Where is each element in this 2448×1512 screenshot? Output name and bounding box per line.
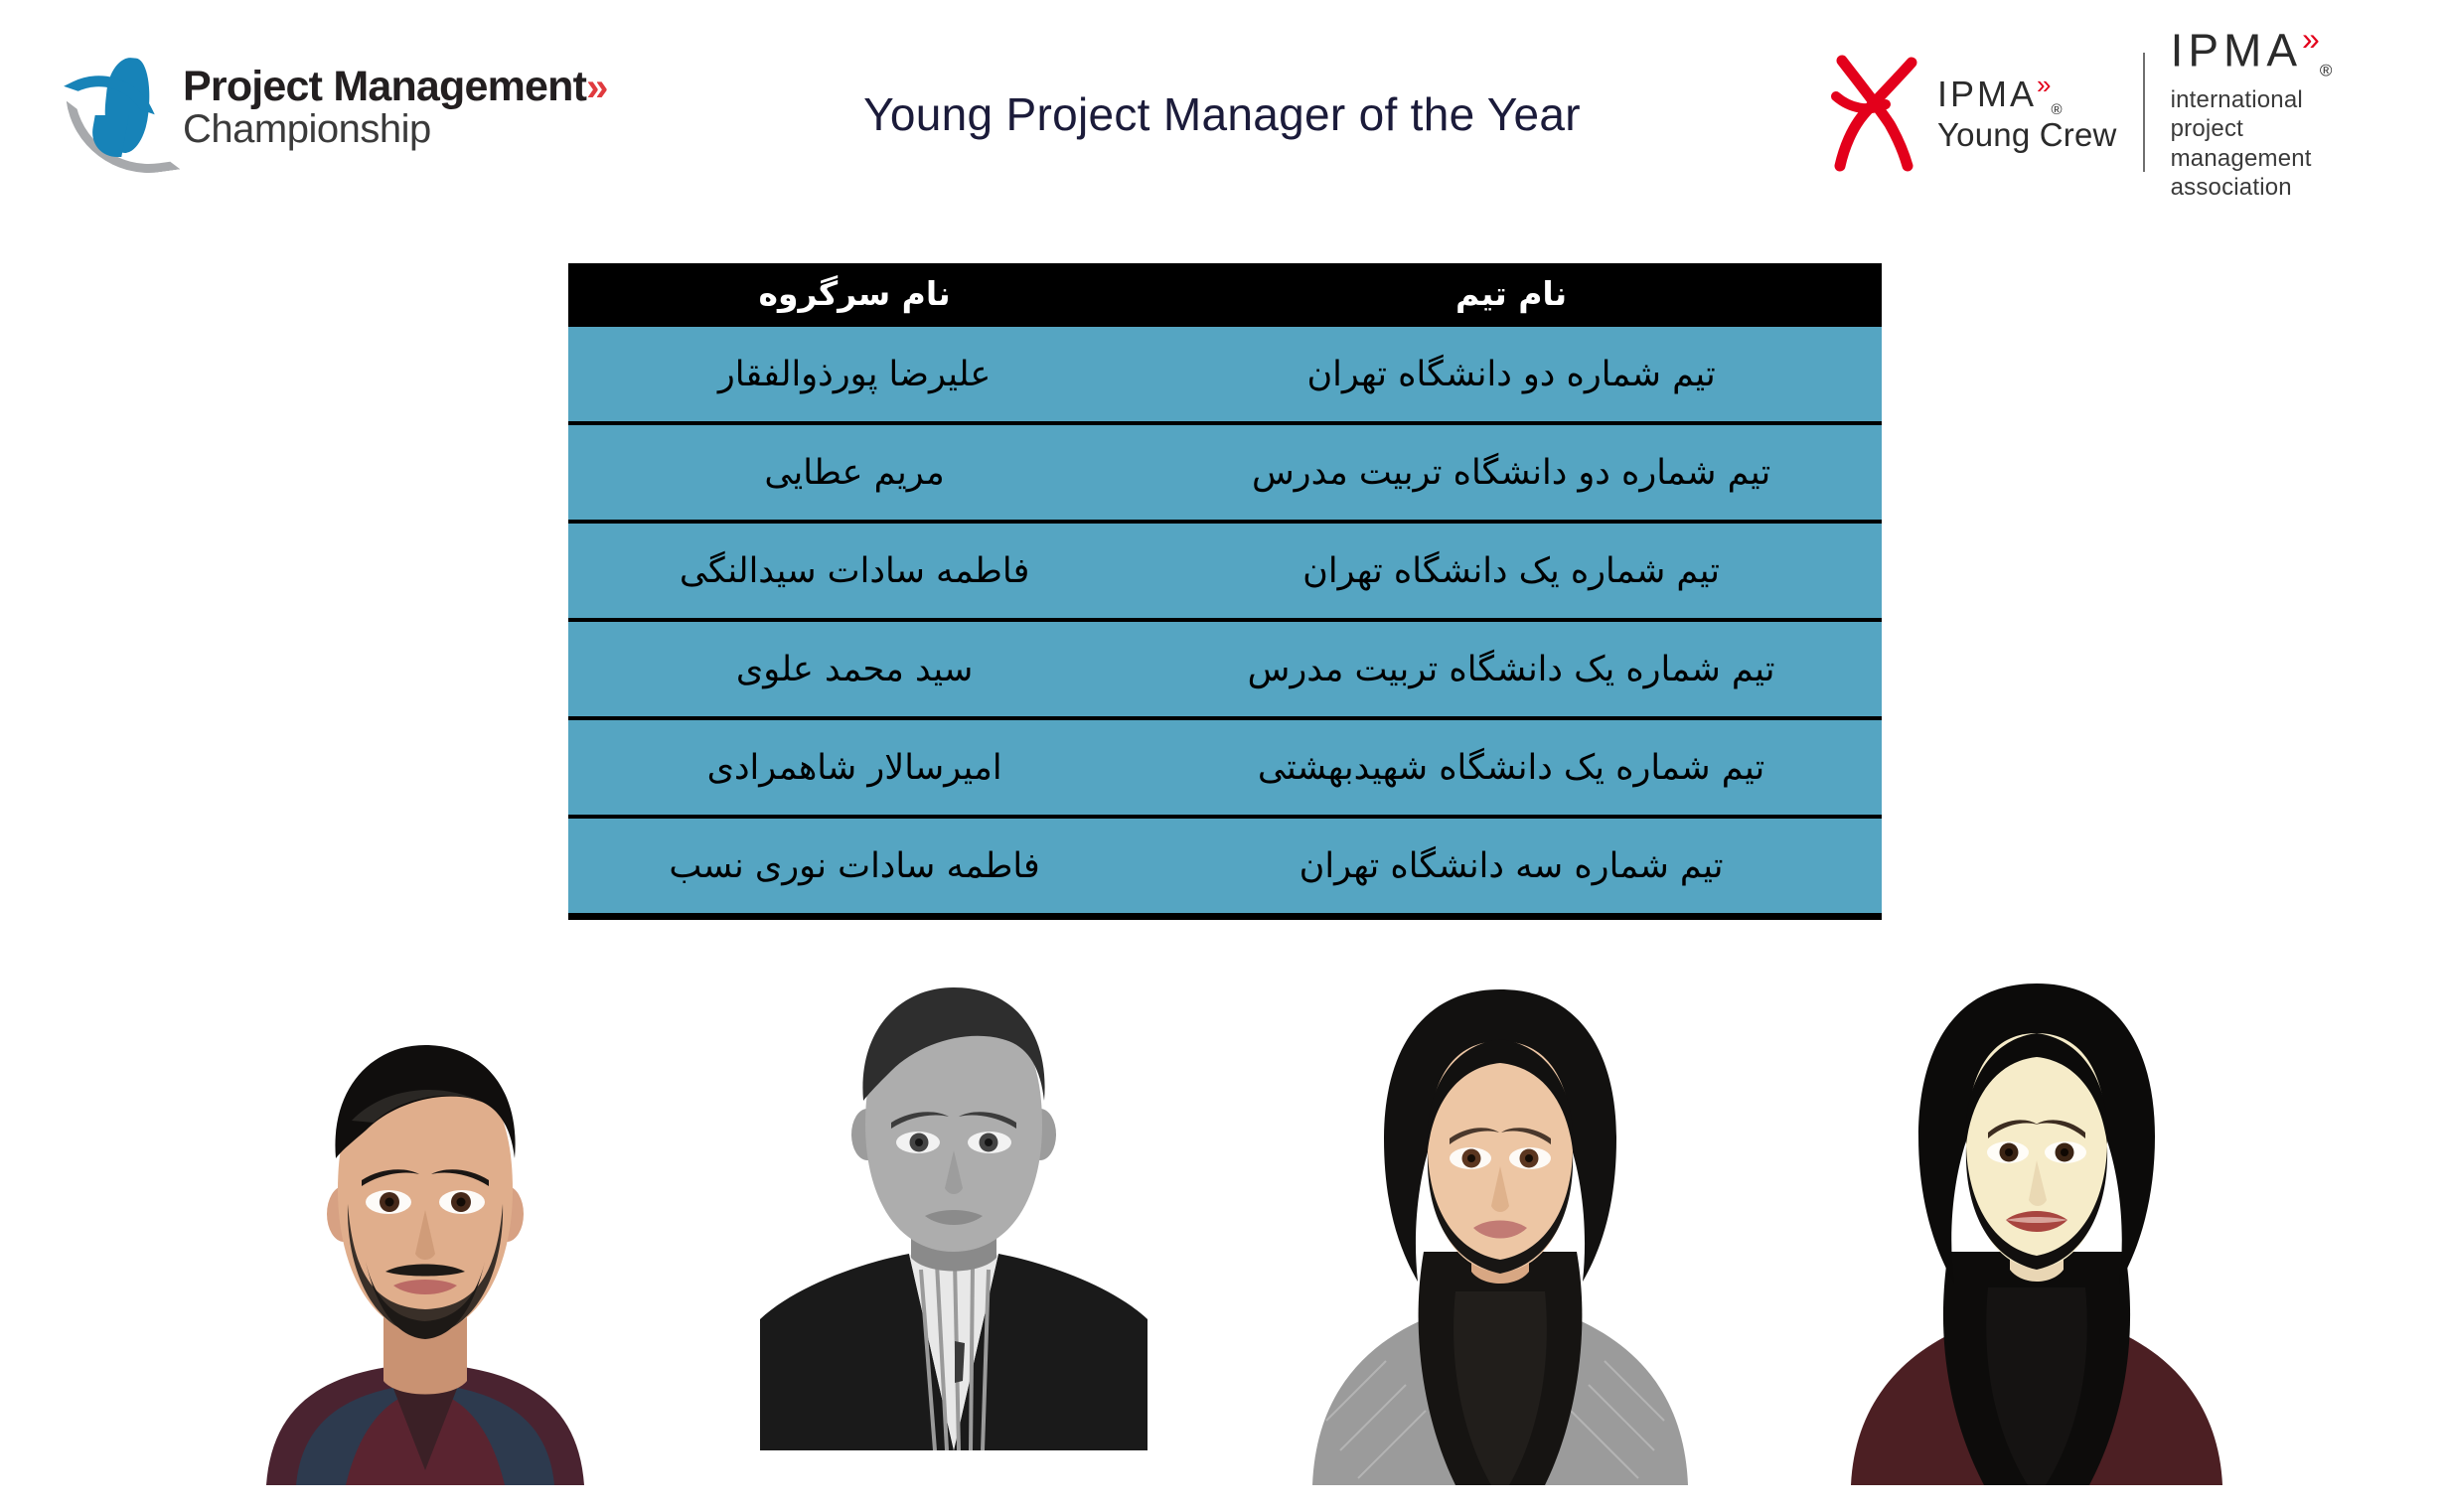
ipma-tagline-line-4: association: [2171, 173, 2338, 202]
pmc-swoosh-icon: [70, 54, 165, 161]
cell-leader-name: علیرضا پورذوالفقار: [568, 325, 1141, 423]
page-title: Young Project Manager of the Year: [755, 87, 1689, 141]
cell-team-name: تیم شماره دو دانشگاه تهران: [1141, 325, 1882, 423]
ipma-tagline: international project management associa…: [2171, 85, 2338, 202]
ipma-main-chevron-icon: »: [2302, 21, 2320, 57]
pmc-wordmark: Project Management» Championship: [183, 66, 608, 150]
cell-team-name: تیم شماره دو دانشگاه تربیت مدرس: [1141, 423, 1882, 522]
teams-table: نام تیم نام سرگروه تیم شماره دو دانشگاه …: [568, 263, 1882, 920]
portrait-photo-3: [1306, 954, 1694, 1485]
ipma-word-text: IPMA: [1937, 74, 2037, 114]
ipma-tagline-line-3: management: [2171, 144, 2338, 173]
table-row: تیم شماره یک دانشگاه تهران فاطمه سادات س…: [568, 522, 1882, 620]
pmc-line-2: Championship: [183, 109, 608, 150]
table-row: تیم شماره یک دانشگاه شهیدبهشتی امیرسالار…: [568, 718, 1882, 817]
table-header-row: نام تیم نام سرگروه: [568, 263, 1882, 325]
ipma-word-main: IPMA»®: [2171, 23, 2338, 79]
cell-leader-name: فاطمه سادات نوری نسب: [568, 817, 1141, 917]
cell-team-name: تیم شماره یک دانشگاه تهران: [1141, 522, 1882, 620]
portrait-woman-black-hijab-grey-blazer: [1306, 954, 1694, 1485]
table-body: تیم شماره دو دانشگاه تهران علیرضا پورذوا…: [568, 325, 1882, 917]
ipma-chevron-icon: »: [2037, 70, 2051, 99]
cell-team-name: تیم شماره یک دانشگاه شهیدبهشتی: [1141, 718, 1882, 817]
ipma-tagline-line-1: international: [2171, 85, 2338, 114]
cell-leader-name: مریم عطایی: [568, 423, 1141, 522]
portrait-young-man-beard: [227, 954, 624, 1485]
portrait-woman-black-hijab-maroon-top: [1843, 954, 2230, 1485]
table-header: نام تیم نام سرگروه: [568, 263, 1882, 325]
young-crew-wordmark: IPMA»® Young Crew: [1937, 72, 2117, 153]
young-crew-subtitle: Young Crew: [1937, 118, 2117, 153]
column-header-leader: نام سرگروه: [568, 263, 1141, 325]
ipma-main-registered-icon: ®: [2320, 61, 2338, 79]
pmc-line-1: Project Management»: [183, 66, 608, 109]
pmc-chevron-icon: »: [586, 66, 607, 109]
header-band: Project Management» Championship Young P…: [0, 0, 2448, 238]
young-crew-figure-icon: [1828, 53, 1923, 172]
portrait-photo-1: [227, 954, 624, 1485]
table-row: تیم شماره دو دانشگاه تربیت مدرس مریم عطا…: [568, 423, 1882, 522]
column-header-team: نام تیم: [1141, 263, 1882, 325]
ipma-young-crew-logo: IPMA»® Young Crew: [1828, 53, 2117, 172]
logo-divider: [2143, 53, 2145, 172]
cell-team-name: تیم شماره سه دانشگاه تهران: [1141, 817, 1882, 917]
table-row: تیم شماره یک دانشگاه تربیت مدرس سید محمد…: [568, 620, 1882, 718]
portrait-photo-4: [1843, 954, 2230, 1485]
portrait-man-suit: [760, 954, 1147, 1450]
cell-leader-name: امیرسالار شاهمرادی: [568, 718, 1141, 817]
project-management-championship-logo: Project Management» Championship: [70, 48, 626, 167]
table-row: تیم شماره دو دانشگاه تهران علیرضا پورذوا…: [568, 325, 1882, 423]
cell-leader-name: فاطمه سادات سیدالنگی: [568, 522, 1141, 620]
ipma-main-word-text: IPMA: [2171, 24, 2302, 76]
portrait-photo-strip: [0, 954, 2448, 1495]
table-row: تیم شماره سه دانشگاه تهران فاطمه سادات ن…: [568, 817, 1882, 917]
ipma-word-young-crew: IPMA»®: [1937, 72, 2117, 118]
ipma-tagline-line-2: project: [2171, 114, 2338, 143]
ipma-main-logo: IPMA»® international project management …: [2171, 23, 2338, 202]
ipma-logo-cluster: IPMA»® Young Crew IPMA»® international p…: [1828, 38, 2337, 187]
cell-leader-name: سید محمد علوی: [568, 620, 1141, 718]
portrait-photo-2: [760, 954, 1147, 1450]
cell-team-name: تیم شماره یک دانشگاه تربیت مدرس: [1141, 620, 1882, 718]
pmc-line-1-text: Project Management: [183, 63, 586, 110]
